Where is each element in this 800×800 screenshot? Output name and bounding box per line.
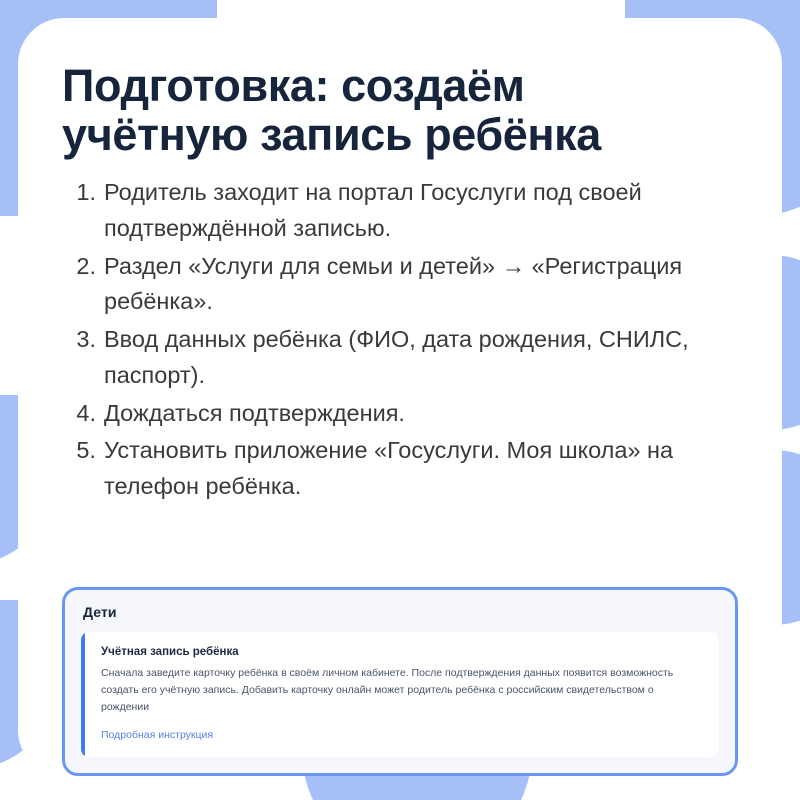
detailed-instruction-link[interactable]: Подробная инструкция: [101, 729, 213, 741]
step-item-3: Ввод данных ребёнка (ФИО, дата рождения,…: [68, 322, 742, 393]
screenshot-section-title: Дети: [83, 604, 719, 620]
page-title-line-1: Подготовка: создаём: [62, 62, 742, 111]
step-item-2: Раздел «Услуги для семьи и детей» → «Рег…: [68, 249, 742, 320]
child-account-panel: Учётная запись ребёнка Сначала заведите …: [81, 632, 719, 757]
step-item-1: Родитель заходит на портал Госуслуги под…: [68, 175, 742, 246]
steps-list: Родитель заходит на портал Госуслуги под…: [18, 175, 782, 504]
slide-canvas: Подготовка: создаём учётную запись ребён…: [0, 0, 800, 800]
content-sheet: Подготовка: создаём учётную запись ребён…: [18, 18, 782, 776]
child-account-description: Сначала заведите карточку ребёнка в своё…: [101, 665, 701, 716]
page-title-line-2: учётную запись ребёнка: [62, 111, 742, 160]
step-item-4: Дождаться подтверждения.: [68, 396, 742, 432]
accent-bar: [81, 632, 85, 757]
page-title: Подготовка: создаём учётную запись ребён…: [18, 18, 782, 159]
gosuslugi-screenshot-card: Дети Учётная запись ребёнка Сначала заве…: [62, 587, 738, 776]
step-item-5: Установить приложение «Госуслуги. Моя шк…: [68, 433, 742, 504]
child-account-heading: Учётная запись ребёнка: [101, 646, 701, 658]
